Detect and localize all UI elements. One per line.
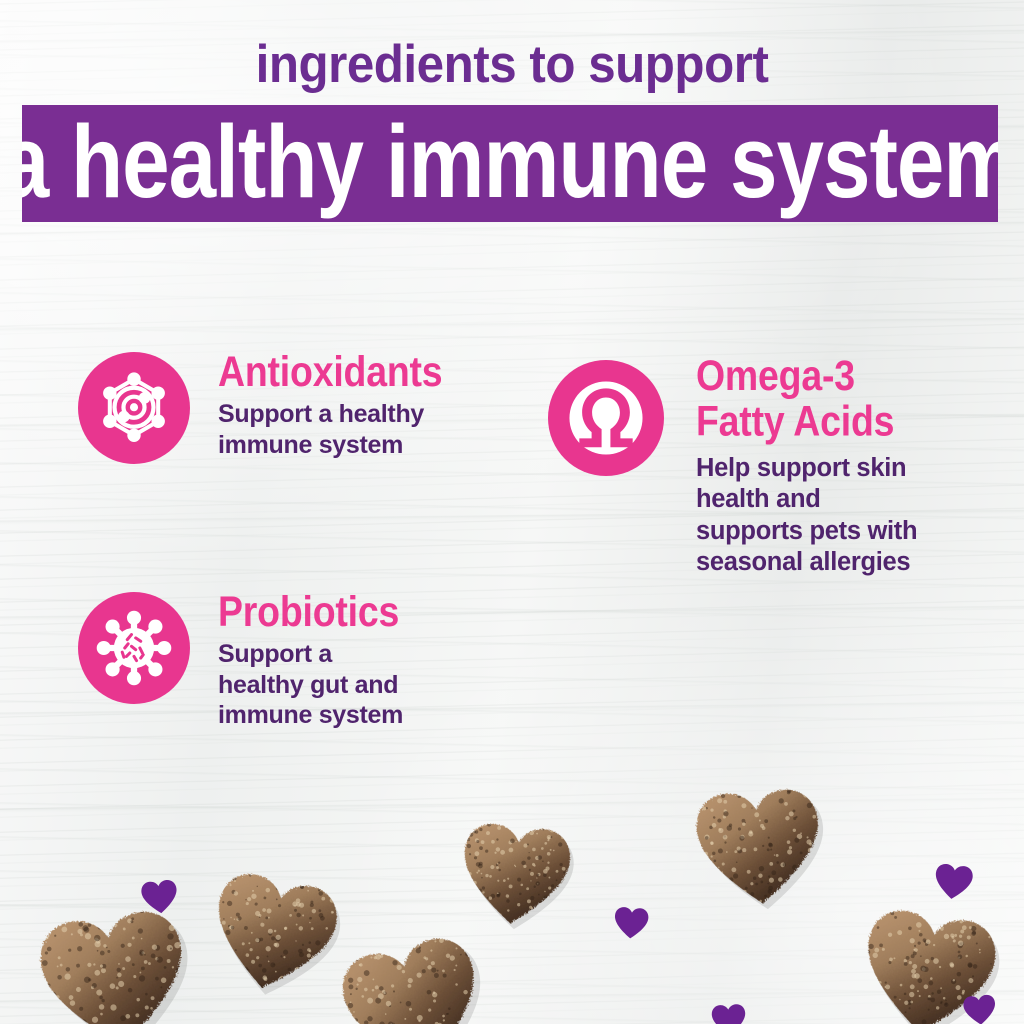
benefit-title-omega-3: Omega-3 Fatty Acids: [696, 354, 908, 445]
benefit-text-omega-3: Omega-3 Fatty Acids Help support skin he…: [696, 358, 917, 579]
benefit-description-antioxidants: Support a healthy immune system: [218, 399, 452, 460]
benefit-description-probiotics: Support a healthy gut and immune system: [218, 639, 407, 731]
infographic-canvas: ingredients to support a healthy immune …: [0, 0, 1024, 1024]
benefit-text-antioxidants: Antioxidants Support a healthy immune sy…: [218, 352, 452, 460]
benefit-title-probiotics: Probiotics: [218, 590, 399, 635]
benefit-title-antioxidants: Antioxidants: [218, 350, 442, 395]
molecule-atom-icon: [78, 352, 190, 464]
page-title-line1: ingredients to support: [36, 38, 988, 91]
page-title-line2: a healthy immune system: [22, 110, 998, 218]
omega-symbol-icon: [548, 360, 664, 476]
benefit-description-omega-3: Help support skin health and supports pe…: [696, 453, 917, 579]
microbe-probiotic-icon: [78, 592, 190, 704]
headline-band: a healthy immune system: [22, 105, 998, 222]
benefit-text-probiotics: Probiotics Support a healthy gut and imm…: [218, 592, 407, 731]
